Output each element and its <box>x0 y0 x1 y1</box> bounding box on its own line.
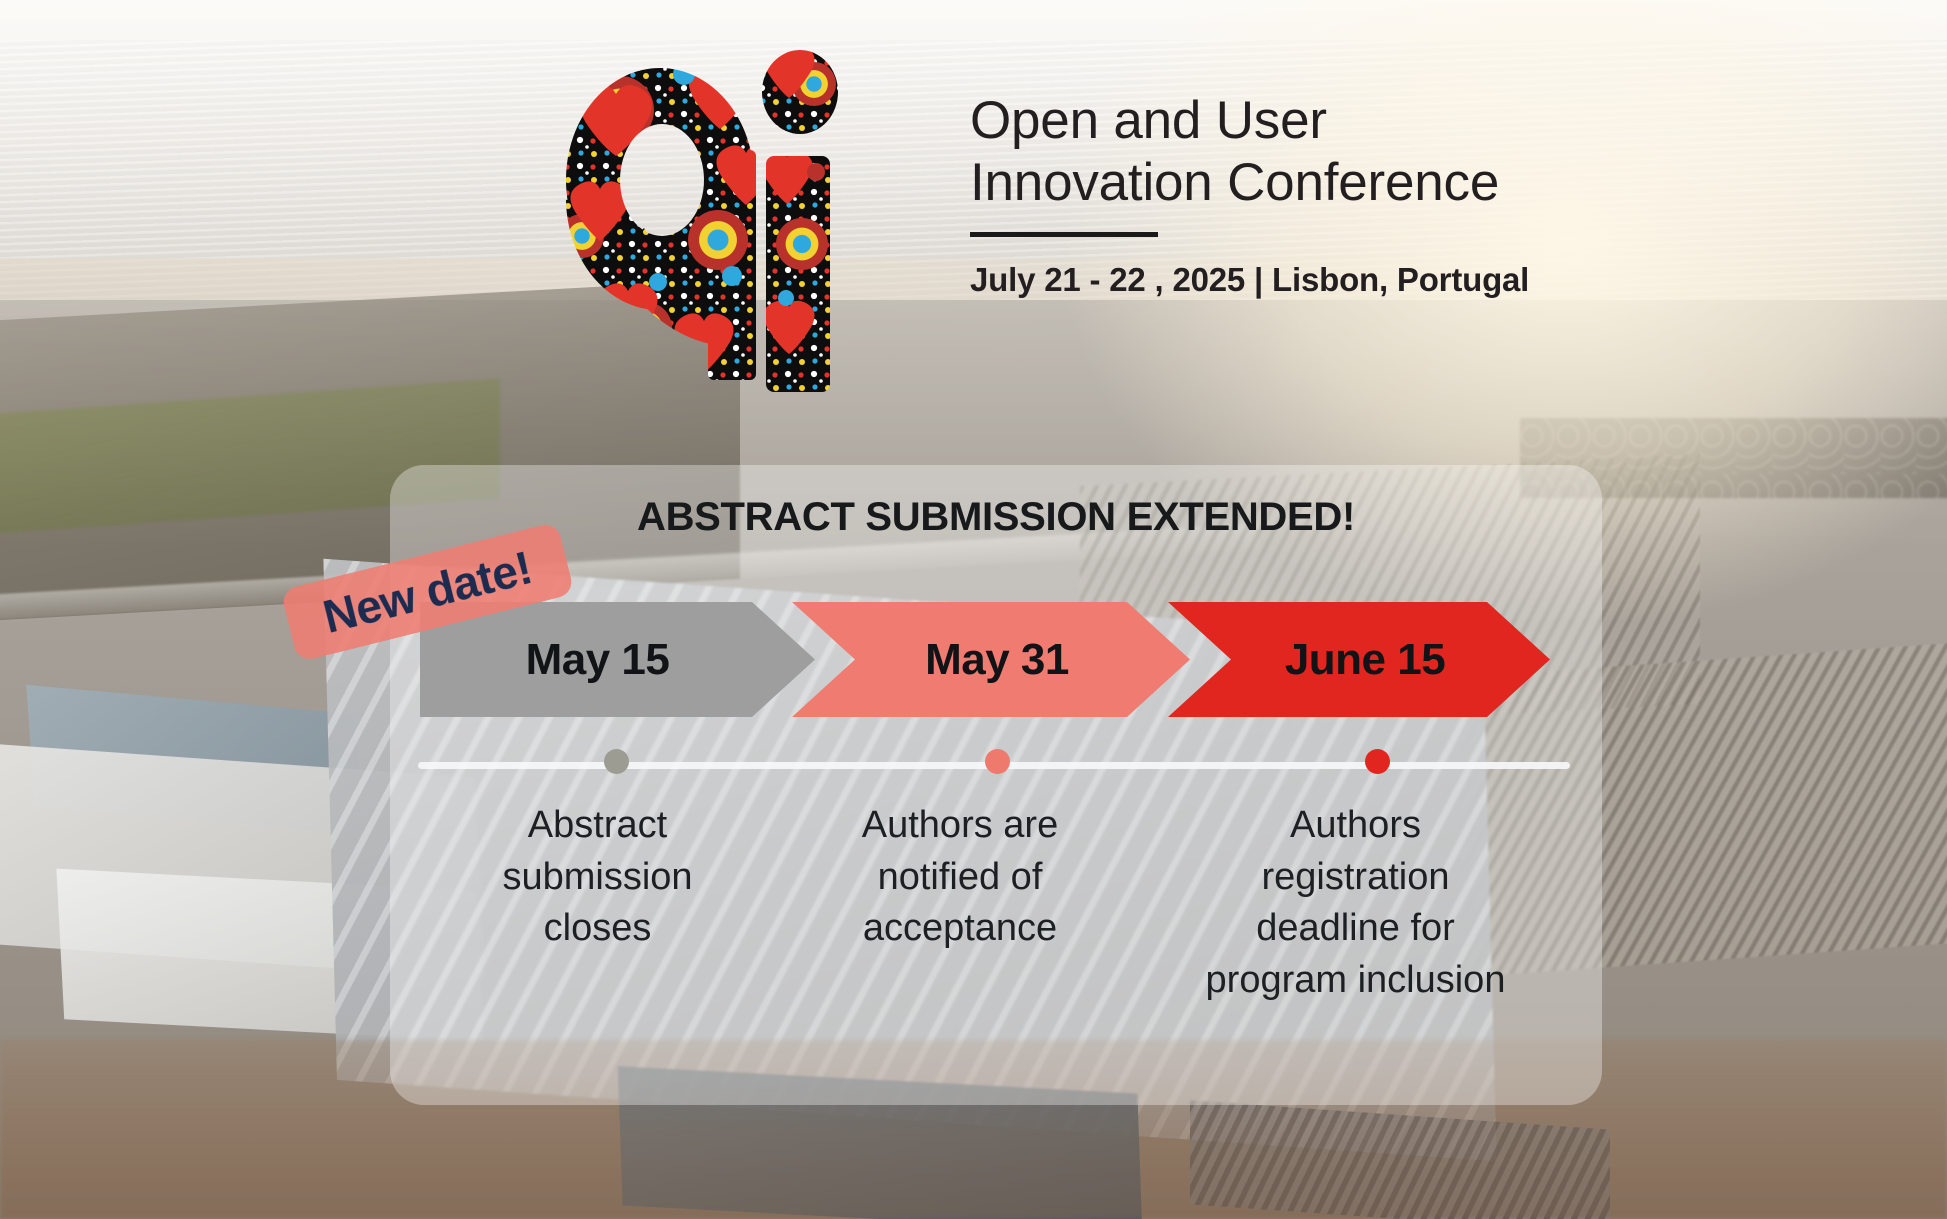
title-block: Open and User Innovation Conference July… <box>970 90 1650 299</box>
milestone-captions: Abstract submission closes Authors are n… <box>420 800 1570 1007</box>
poster-header: Open and User Innovation Conference July… <box>0 0 1947 430</box>
timeline-dot-june-15 <box>1365 749 1390 774</box>
conference-date-location: July 21 - 22 , 2025 | Lisbon, Portugal <box>970 261 1650 299</box>
card-heading: ABSTRACT SUBMISSION EXTENDED! <box>390 495 1602 540</box>
milestone-caption-may-15: Abstract submission closes <box>420 800 775 1007</box>
conference-title: Open and User Innovation Conference <box>970 90 1650 214</box>
timeline-track <box>418 758 1570 772</box>
deadline-card <box>390 465 1602 1105</box>
timeline-dot-may-31 <box>985 749 1010 774</box>
milestone-chevron-may-15: May 15 <box>420 602 815 717</box>
timeline-dot-may-15 <box>604 749 629 774</box>
milestone-chevron-june-15: June 15 <box>1168 602 1550 717</box>
title-divider-rule <box>970 232 1158 237</box>
milestone-chevrons: May 15 May 31 June 15 <box>420 602 1550 717</box>
milestone-date-1: May 31 <box>925 635 1069 685</box>
oi-logo <box>470 30 900 420</box>
poster-canvas: Open and User Innovation Conference July… <box>0 0 1947 1219</box>
milestone-caption-june-15: Authors registration deadline for progra… <box>1143 800 1568 1007</box>
milestone-chevron-may-31: May 31 <box>792 602 1190 717</box>
milestone-caption-may-31: Authors are notified of acceptance <box>775 800 1145 1007</box>
milestone-date-2: June 15 <box>1285 635 1445 685</box>
milestone-date-0: May 15 <box>526 635 670 685</box>
